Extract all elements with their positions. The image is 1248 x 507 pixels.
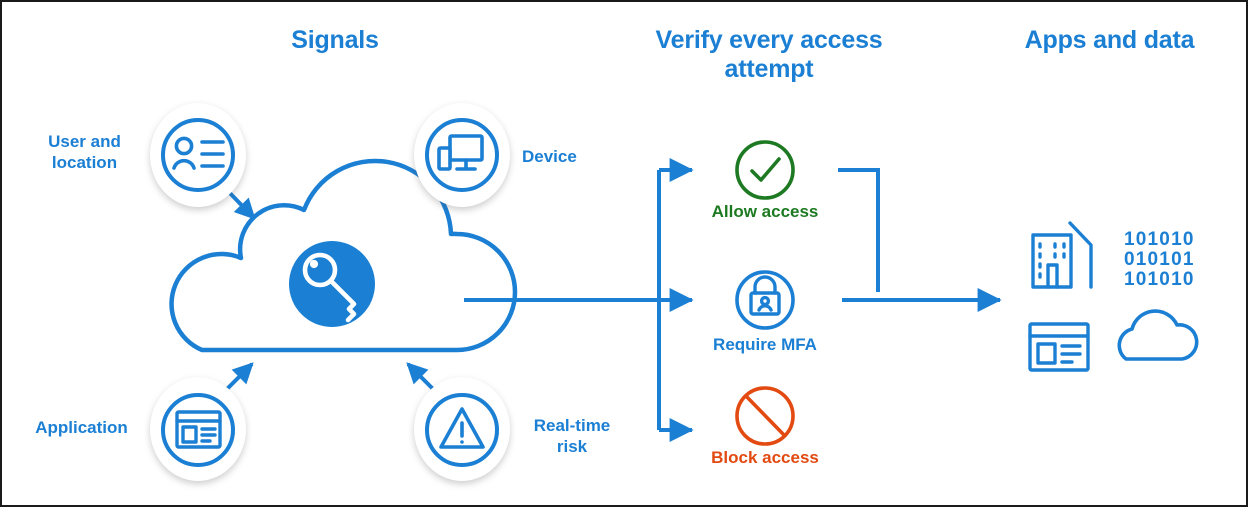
label-allow-access: Allow access xyxy=(645,202,885,222)
application-window-icon-top xyxy=(163,395,233,465)
user-card-icon-top xyxy=(163,120,233,190)
label-require-mfa: Require MFA xyxy=(645,335,885,355)
label-real-time-risk: Real-time risk xyxy=(517,415,627,457)
binary-data-icon: 101010 010101 101010 xyxy=(1124,230,1195,290)
heading-signals: Signals xyxy=(235,26,435,55)
heading-apps-and-data: Apps and data xyxy=(987,26,1232,55)
warning-triangle-icon-top xyxy=(427,395,497,465)
binary-row-3: 101010 xyxy=(1124,270,1195,290)
binary-row-2: 010101 xyxy=(1124,250,1195,270)
device-monitor-phone-icon-top xyxy=(427,120,497,190)
diagram-canvas: 101010 010101 101010 Signals Verify ever… xyxy=(0,0,1248,507)
binary-row-1: 101010 xyxy=(1124,230,1195,250)
label-device: Device xyxy=(522,146,622,167)
heading-verify-every-access-attempt: Verify every access attempt xyxy=(639,26,899,84)
label-user-and-location: User and location xyxy=(22,131,147,173)
label-block-access: Block access xyxy=(645,448,885,468)
label-application: Application xyxy=(14,417,149,438)
